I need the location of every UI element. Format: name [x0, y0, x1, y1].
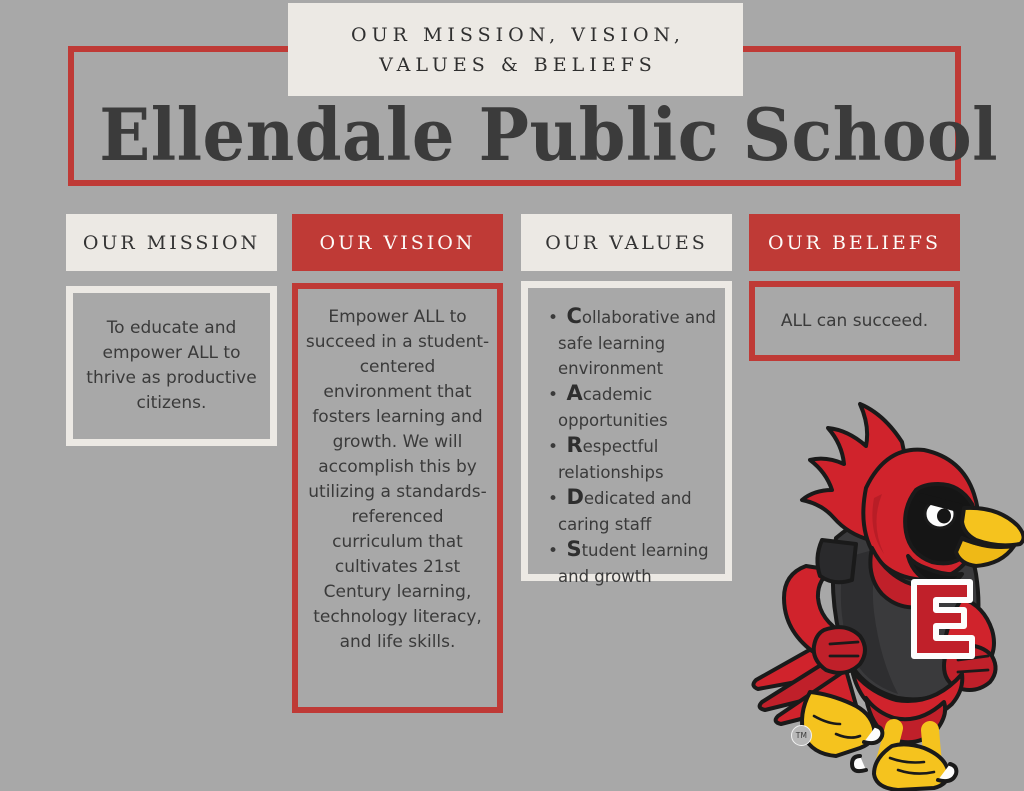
- poster-canvas: Ellendale Public School OUR MISSION, VIS…: [0, 0, 1024, 791]
- bullet-icon: •: [548, 437, 566, 457]
- bullet-icon: •: [548, 489, 566, 509]
- page-title: Ellendale Public School: [99, 92, 929, 178]
- values-item-initial: A: [566, 381, 582, 405]
- values-item-text: tudent learning and growth: [558, 541, 709, 586]
- beliefs-text: ALL can succeed.: [775, 309, 934, 334]
- values-list-wrap: • Collaborative and safe learning enviro…: [528, 288, 725, 589]
- bullet-icon: •: [548, 385, 566, 405]
- values-item-initial: S: [566, 537, 581, 561]
- values-list: • Collaborative and safe learning enviro…: [528, 288, 725, 589]
- values-list-item: • Dedicated and caring staff: [542, 485, 719, 537]
- trademark-icon: TM: [791, 725, 812, 746]
- values-list-item: • Respectful relationships: [542, 433, 719, 485]
- values-item-initial: R: [566, 433, 582, 457]
- banner-line-2: VALUES & BELIEFS: [351, 50, 685, 80]
- banner: OUR MISSION, VISION, VALUES & BELIEFS: [288, 3, 743, 96]
- values-item-text: ollaborative and safe learning environme…: [558, 308, 716, 378]
- header-our-beliefs-label: OUR BELIEFS: [768, 232, 941, 254]
- header-our-mission-label: OUR MISSION: [83, 232, 260, 254]
- values-list-item: • Student learning and growth: [542, 537, 719, 589]
- mission-box: To educate and empower ALL to thrive as …: [66, 286, 277, 446]
- mission-text: To educate and empower ALL to thrive as …: [73, 316, 270, 416]
- values-box: • Collaborative and safe learning enviro…: [521, 281, 732, 581]
- bullet-icon: •: [548, 308, 566, 328]
- values-item-initial: C: [566, 304, 581, 328]
- beliefs-box: ALL can succeed.: [749, 281, 960, 361]
- vision-text: Empower ALL to succeed in a student-cent…: [298, 289, 497, 655]
- values-item-initial: D: [566, 485, 583, 509]
- banner-text: OUR MISSION, VISION, VALUES & BELIEFS: [346, 20, 685, 80]
- values-list-item: • Academic opportunities: [542, 381, 719, 433]
- header-our-values: OUR VALUES: [521, 214, 732, 271]
- header-our-mission: OUR MISSION: [66, 214, 277, 271]
- header-our-values-label: OUR VALUES: [545, 232, 708, 254]
- values-list-item: • Collaborative and safe learning enviro…: [542, 304, 719, 381]
- banner-line-1: OUR MISSION, VISION,: [351, 20, 685, 50]
- header-our-beliefs: OUR BELIEFS: [749, 214, 960, 271]
- bullet-icon: •: [548, 541, 566, 561]
- vision-box: Empower ALL to succeed in a student-cent…: [292, 283, 503, 713]
- cardinal-mascot-icon: [748, 398, 1024, 791]
- header-our-vision-label: OUR VISION: [320, 232, 476, 254]
- header-our-vision: OUR VISION: [292, 214, 503, 271]
